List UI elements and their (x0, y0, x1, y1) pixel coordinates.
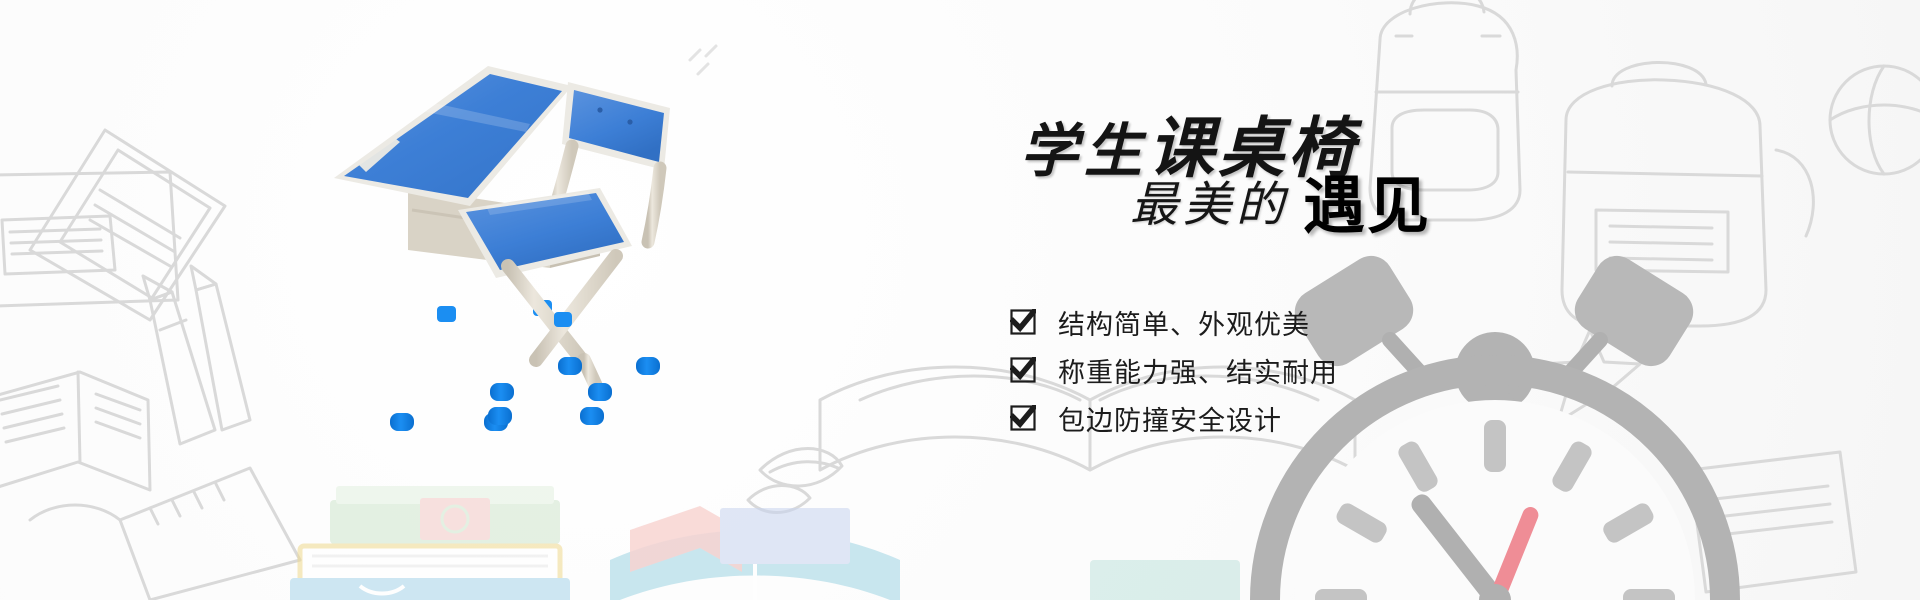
headline-block: 学生课桌椅 最美的 遇见 (1010, 95, 1610, 245)
headline-prefix: 学生 (1020, 119, 1148, 184)
headline-soft: 最美的 (1130, 165, 1289, 235)
solid-illustration-layer (0, 0, 1920, 600)
headline: 学生课桌椅 最美的 遇见 (1010, 95, 1610, 245)
circle-doodle (1830, 66, 1920, 174)
notebook-doodle (0, 130, 225, 320)
background-doodle-layer (0, 0, 1920, 600)
check-mark-icon (1010, 357, 1036, 383)
background-wash (0, 0, 1920, 600)
ruler-doodle (120, 468, 300, 600)
check-mark-icon (1010, 405, 1036, 431)
feature-label: 称重能力强、结实耐用 (1058, 351, 1338, 390)
feature-label: 包边防撞安全设计 (1058, 399, 1282, 438)
feature-item: 称重能力强、结实耐用 (1010, 348, 1570, 392)
pencil-doodle (143, 266, 250, 444)
feature-list: 结构简单、外观优美 称重能力强、结实耐用 包边防撞安全设计 (1010, 300, 1570, 444)
feature-item: 结构简单、外观优美 (1010, 300, 1570, 344)
feature-label: 结构简单、外观优美 (1058, 303, 1310, 342)
student-desk-and-chair-photo (300, 60, 820, 540)
open-book-doodle (0, 372, 150, 520)
feature-item: 包边防撞安全设计 (1010, 396, 1570, 440)
headline-line-2: 最美的 遇见 (1130, 165, 1431, 235)
promo-banner: 学生课桌椅 最美的 遇见 结构简单、外观优美 (0, 0, 1920, 600)
check-mark-icon (1010, 309, 1036, 335)
headline-strong: 遇见 (1303, 178, 1431, 235)
paper-doodle (1690, 452, 1856, 592)
